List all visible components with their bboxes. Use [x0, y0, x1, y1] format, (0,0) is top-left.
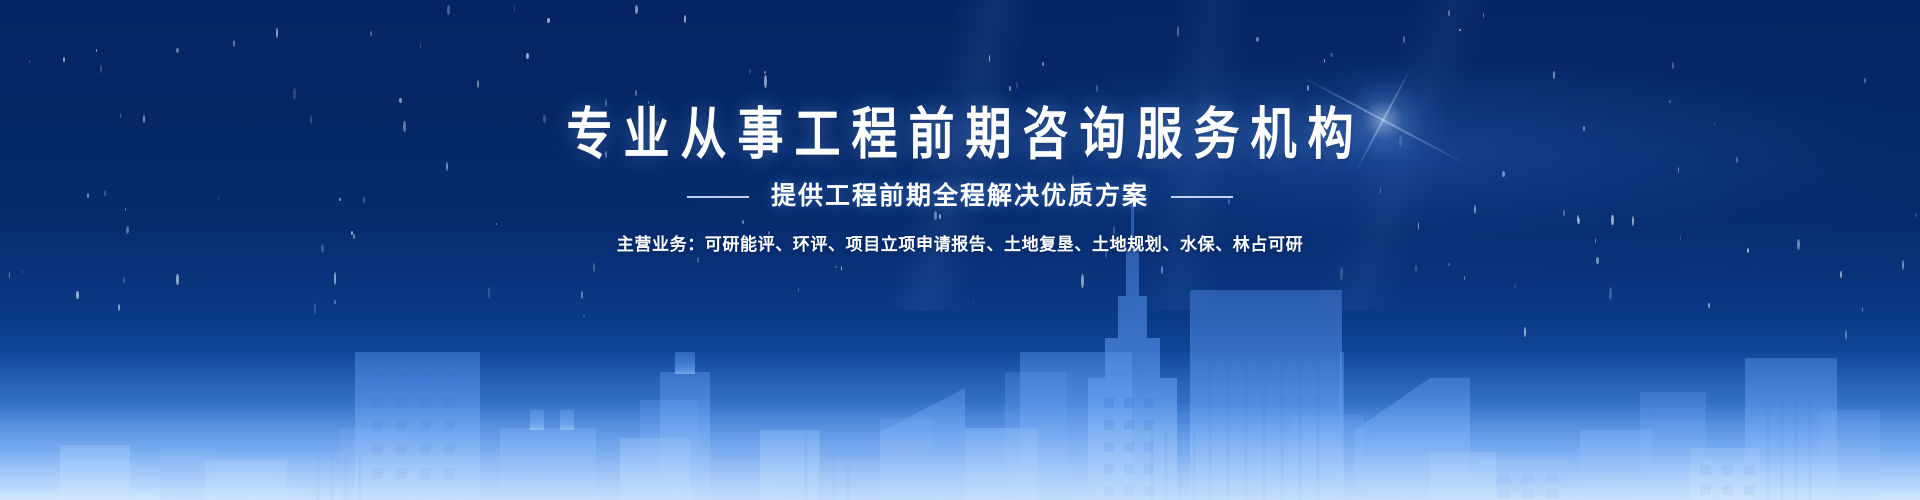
star-particle-icon — [583, 314, 585, 317]
star-particle-icon — [1415, 265, 1417, 273]
ground-glow-arc — [0, 375, 1920, 500]
hero-banner: 专业从事工程前期咨询服务机构 提供工程前期全程解决优质方案 主营业务：可研能评、… — [0, 0, 1920, 500]
star-particle-icon — [1708, 303, 1710, 308]
star-particle-icon — [1596, 257, 1599, 263]
banner-services-line: 主营业务：可研能评、环评、项目立项申请报告、土地复垦、土地规划、水保、林占可研 — [0, 236, 1920, 253]
star-particle-icon — [1902, 260, 1905, 270]
star-particle-icon — [22, 271, 23, 273]
star-particle-icon — [835, 266, 836, 268]
banner-subtitle-row: 提供工程前期全程解决优质方案 — [0, 184, 1920, 209]
star-particle-icon — [76, 291, 78, 299]
star-particle-icon — [334, 300, 336, 304]
star-particle-icon — [314, 303, 316, 315]
star-particle-icon — [9, 272, 11, 278]
banner-content: 专业从事工程前期咨询服务机构 提供工程前期全程解决优质方案 主营业务：可研能评、… — [0, 0, 1920, 253]
star-particle-icon — [1514, 285, 1516, 288]
star-particle-icon — [1840, 271, 1842, 278]
star-particle-icon — [1340, 267, 1343, 281]
star-particle-icon — [1524, 327, 1526, 337]
star-particle-icon — [1161, 266, 1163, 274]
rule-right-icon — [1171, 196, 1233, 198]
star-particle-icon — [1845, 330, 1847, 340]
ground-haze — [0, 350, 1920, 500]
star-particle-icon — [798, 288, 799, 293]
star-particle-icon — [1081, 274, 1084, 288]
banner-headline: 专业从事工程前期咨询服务机构 — [0, 106, 1920, 162]
star-particle-icon — [334, 272, 337, 285]
star-particle-icon — [1609, 287, 1612, 300]
star-particle-icon — [1448, 263, 1450, 267]
star-particle-icon — [593, 263, 596, 272]
rule-left-icon — [687, 196, 749, 198]
banner-subtitle: 提供工程前期全程解决优质方案 — [771, 184, 1149, 209]
star-particle-icon — [841, 266, 842, 272]
star-particle-icon — [488, 287, 491, 299]
star-particle-icon — [697, 257, 699, 264]
star-particle-icon — [581, 291, 583, 299]
star-particle-icon — [1862, 307, 1863, 312]
star-particle-icon — [176, 274, 178, 285]
star-particle-icon — [118, 304, 120, 311]
star-particle-icon — [973, 301, 974, 304]
star-particle-icon — [1464, 276, 1466, 280]
star-particle-icon — [123, 277, 125, 283]
